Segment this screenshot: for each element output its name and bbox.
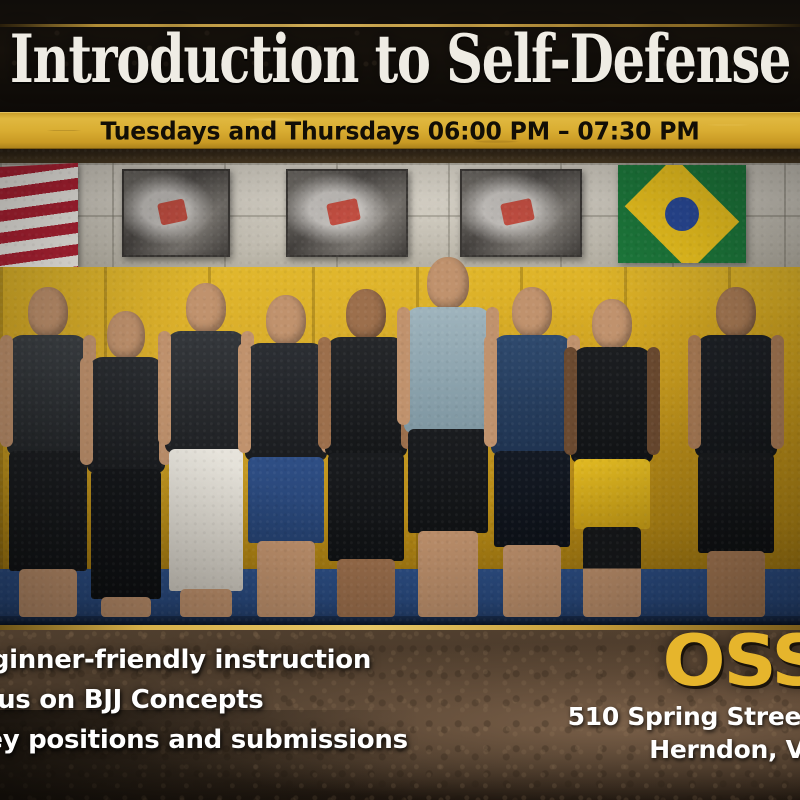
person-head <box>716 287 756 337</box>
person-torso <box>325 337 407 457</box>
feature-item: Beginner-friendly instruction <box>0 640 430 680</box>
person <box>490 281 574 617</box>
person-shorts <box>328 453 404 561</box>
person-head <box>266 295 306 345</box>
person <box>404 265 492 617</box>
person-arm <box>80 357 93 465</box>
person-shorts <box>248 457 324 543</box>
schedule-text-wrapper: Tuesdays and Thursdays 06:00 PM – 07:30 … <box>81 116 718 145</box>
person-torso <box>245 343 327 461</box>
person-feet <box>101 597 151 617</box>
person-head <box>427 257 469 309</box>
person <box>164 281 248 617</box>
person-torso <box>695 335 777 457</box>
person-legs <box>583 527 641 617</box>
person <box>694 283 778 617</box>
person <box>324 283 408 617</box>
page-title: Introduction to Self-Defense <box>0 26 800 92</box>
person-head <box>107 311 145 359</box>
person <box>244 287 328 617</box>
person-shorts <box>698 453 774 553</box>
wall-photo-frame <box>460 169 582 257</box>
person-arm <box>771 335 784 449</box>
person-arm <box>484 335 497 447</box>
person-arm <box>397 307 410 425</box>
page-title-text: Introduction to Self-Defense <box>10 26 790 92</box>
person-legs <box>707 551 765 617</box>
wall-photo-frame <box>122 169 230 257</box>
poster-header: Introduction to Self-Defense <box>0 0 800 112</box>
person-shorts <box>574 459 650 529</box>
ceiling-band <box>0 149 800 163</box>
person-torso <box>165 331 247 453</box>
person-legs <box>418 531 478 617</box>
person-arm <box>0 335 13 447</box>
person-torso <box>7 335 89 455</box>
person-gi-pants <box>169 449 243 591</box>
person-head <box>346 289 386 339</box>
person-head <box>186 283 226 333</box>
person-head <box>512 287 552 337</box>
wall-photo-frame <box>286 169 408 257</box>
person <box>86 299 166 617</box>
person-arm <box>688 335 701 449</box>
people-row <box>0 247 800 625</box>
poster-footer: Beginner-friendly instruction Focus on B… <box>0 630 800 800</box>
person-arm <box>318 337 331 449</box>
person-head <box>28 287 68 337</box>
person-shorts <box>408 429 488 533</box>
address-block: 510 Spring Street, Herndon, VA <box>402 700 800 766</box>
poster-image: Introduction to Self-Defense Tuesdays an… <box>0 0 800 800</box>
schedule-banner: Tuesdays and Thursdays 06:00 PM – 07:30 … <box>0 112 800 149</box>
class-group-photo <box>0 149 800 625</box>
person-feet <box>180 589 232 617</box>
person-arm <box>238 343 251 453</box>
brand-logo: OSS <box>667 630 800 696</box>
person-legs <box>503 545 561 617</box>
schedule-text: Tuesdays and Thursdays 06:00 PM – 07:30 … <box>100 116 699 145</box>
person-legs <box>337 559 395 617</box>
person-arm <box>647 347 660 455</box>
person-torso <box>404 307 492 433</box>
person-head <box>592 299 632 349</box>
person-leggings <box>91 469 161 599</box>
address-line-2: Herndon, VA <box>402 733 800 766</box>
person-legs <box>257 541 315 617</box>
person <box>6 287 90 617</box>
person <box>570 287 654 617</box>
feature-list: Beginner-friendly instruction Focus on B… <box>0 640 430 760</box>
person-shorts <box>494 451 570 547</box>
person-legs <box>19 569 77 617</box>
person-arm <box>158 331 171 445</box>
brand-logo-text: OSS <box>662 630 800 696</box>
feature-item: Key positions and submissions <box>0 720 430 760</box>
address-line-1: 510 Spring Street, <box>402 700 800 733</box>
person-torso <box>491 335 573 455</box>
person-shorts <box>9 451 87 571</box>
person-torso <box>87 357 165 473</box>
person-torso <box>571 347 653 463</box>
feature-item: Focus on BJJ Concepts <box>0 680 430 720</box>
person-arm <box>564 347 577 455</box>
